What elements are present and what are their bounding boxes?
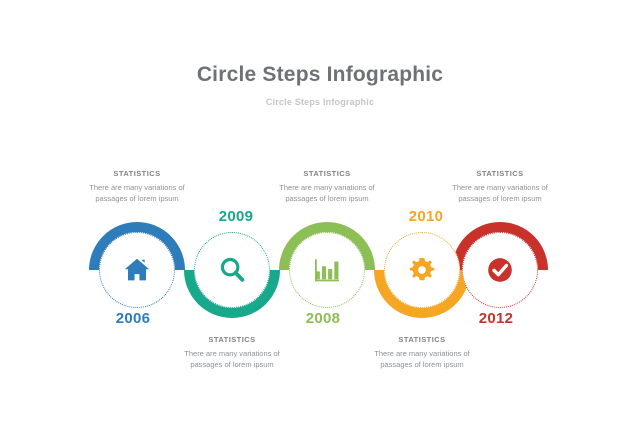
- year-label-2012: 2012: [436, 310, 556, 327]
- caption-line-2: passages of lorem ipsum: [49, 193, 225, 204]
- caption-body: There are many variations ofpassages of …: [412, 182, 588, 204]
- year-label-2009: 2009: [176, 208, 296, 225]
- caption-line-1: There are many variations of: [144, 348, 320, 359]
- year-label-2010: 2010: [366, 208, 486, 225]
- caption-body: There are many variations ofpassages of …: [334, 348, 510, 370]
- magnifier-icon: [217, 255, 247, 285]
- caption-body: There are many variations ofpassages of …: [49, 182, 225, 204]
- caption-2008: STATISTICSThere are many variations ofpa…: [239, 168, 415, 204]
- step-node-2009[interactable]: [194, 232, 270, 308]
- caption-line-2: passages of lorem ipsum: [239, 193, 415, 204]
- check-circle-icon: [485, 255, 515, 285]
- caption-2006: STATISTICSThere are many variations ofpa…: [49, 168, 225, 204]
- caption-title: STATISTICS: [412, 168, 588, 179]
- caption-body: There are many variations ofpassages of …: [239, 182, 415, 204]
- infographic-canvas: Circle Steps Infographic Circle Steps In…: [0, 0, 640, 443]
- year-label-2008: 2008: [263, 310, 383, 327]
- wave-connector: [0, 0, 640, 443]
- caption-title: STATISTICS: [239, 168, 415, 179]
- step-node-2012[interactable]: [462, 232, 538, 308]
- caption-line-2: passages of lorem ipsum: [334, 359, 510, 370]
- caption-line-1: There are many variations of: [49, 182, 225, 193]
- caption-line-1: There are many variations of: [239, 182, 415, 193]
- step-node-2008[interactable]: [289, 232, 365, 308]
- caption-line-2: passages of lorem ipsum: [144, 359, 320, 370]
- caption-title: STATISTICS: [144, 334, 320, 345]
- caption-title: STATISTICS: [334, 334, 510, 345]
- gear-icon: [407, 255, 437, 285]
- caption-2012: STATISTICSThere are many variations ofpa…: [412, 168, 588, 204]
- caption-title: STATISTICS: [49, 168, 225, 179]
- bar-chart-icon: [312, 255, 342, 285]
- caption-2009: STATISTICSThere are many variations ofpa…: [144, 334, 320, 370]
- caption-line-1: There are many variations of: [412, 182, 588, 193]
- home-icon: [122, 255, 152, 285]
- caption-body: There are many variations ofpassages of …: [144, 348, 320, 370]
- step-node-2006[interactable]: [99, 232, 175, 308]
- year-label-2006: 2006: [73, 310, 193, 327]
- step-node-2010[interactable]: [384, 232, 460, 308]
- caption-line-2: passages of lorem ipsum: [412, 193, 588, 204]
- caption-line-1: There are many variations of: [334, 348, 510, 359]
- caption-2010: STATISTICSThere are many variations ofpa…: [334, 334, 510, 370]
